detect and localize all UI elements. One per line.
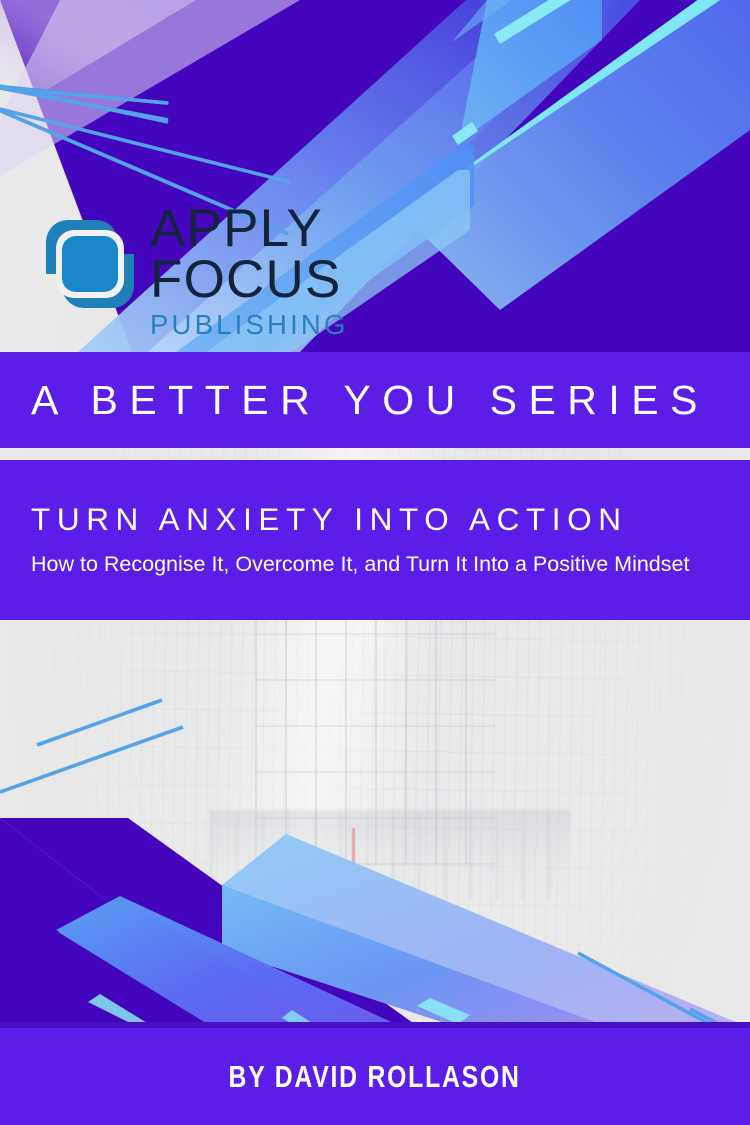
series-band: A BETTER YOU SERIES — [0, 352, 750, 448]
publisher-logo-wordmark: APPLY FOCUS PUBLISHING — [150, 205, 349, 338]
book-subtitle: How to Recognise It, Overcome It, and Tu… — [0, 550, 750, 580]
book-title: TURN ANXIETY INTO ACTION — [0, 504, 750, 536]
overlapping-rounded-squares-icon — [38, 212, 142, 316]
series-label: A BETTER YOU SERIES — [0, 380, 750, 421]
author-byline: BY DAVID ROLLASON — [229, 1061, 521, 1092]
author-band: BY DAVID ROLLASON — [0, 1028, 750, 1125]
logo-line-publishing: PUBLISHING — [150, 311, 349, 339]
title-band: TURN ANXIETY INTO ACTION How to Recognis… — [0, 460, 750, 620]
publisher-logo: APPLY FOCUS PUBLISHING — [38, 205, 349, 338]
logo-line-apply: APPLY — [150, 205, 349, 254]
book-cover: A BETTER YOU SERIES TURN ANXIETY INTO AC… — [0, 0, 750, 1125]
logo-line-focus: FOCUS — [150, 256, 349, 305]
